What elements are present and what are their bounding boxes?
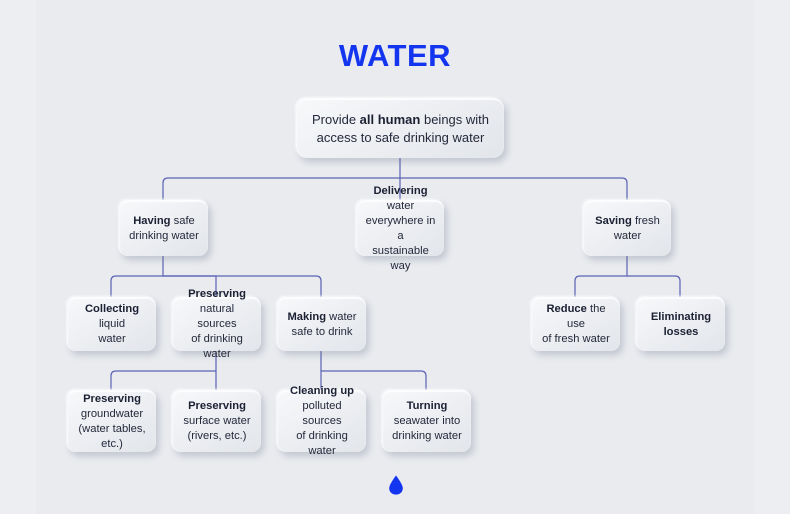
diagram-canvas: WATER Provide — [0, 0, 790, 514]
node-reduce[interactable]: Reduce the useof fresh water — [531, 297, 620, 351]
node-having[interactable]: Having safedrinking water — [119, 200, 208, 256]
node-preserving-natural[interactable]: Preservingnatural sourcesof drinking wat… — [172, 297, 261, 351]
node-preserving-surface-label: Preservingsurface water(rivers, etc.) — [179, 399, 255, 444]
node-preserving-ground[interactable]: Preservinggroundwater(water tables,etc.) — [67, 390, 156, 452]
node-making-label: Making watersafe to drink — [284, 310, 360, 340]
node-delivering-label: Delivering watereverywhere in asustainab… — [363, 184, 438, 274]
node-making[interactable]: Making watersafe to drink — [277, 297, 366, 351]
node-preserving-natural-label: Preservingnatural sourcesof drinking wat… — [179, 287, 255, 362]
node-eliminating-label: Eliminatinglosses — [643, 310, 719, 340]
node-cleaning-up[interactable]: Cleaning uppolluted sourcesof drinking w… — [277, 390, 366, 452]
node-reduce-label: Reduce the useof fresh water — [538, 302, 614, 347]
node-root-label: Provide all human beings withaccess to s… — [303, 111, 498, 147]
node-eliminating[interactable]: Eliminatinglosses — [636, 297, 725, 351]
node-delivering[interactable]: Delivering watereverywhere in asustainab… — [356, 200, 444, 256]
node-root[interactable]: Provide all human beings withaccess to s… — [296, 98, 504, 158]
node-collecting-label: Collecting liquidwater — [74, 302, 150, 347]
node-saving[interactable]: Saving freshwater — [583, 200, 671, 256]
node-having-label: Having safedrinking water — [126, 214, 202, 244]
node-turning-label: Turningseawater intodrinking water — [389, 399, 465, 444]
water-drop-icon — [388, 475, 404, 495]
page-title: WATER — [0, 38, 790, 74]
node-cleaning-up-label: Cleaning uppolluted sourcesof drinking w… — [284, 384, 360, 459]
node-turning[interactable]: Turningseawater intodrinking water — [382, 390, 471, 452]
node-collecting[interactable]: Collecting liquidwater — [67, 297, 156, 351]
node-saving-label: Saving freshwater — [590, 214, 665, 244]
node-preserving-surface[interactable]: Preservingsurface water(rivers, etc.) — [172, 390, 261, 452]
node-preserving-ground-label: Preservinggroundwater(water tables,etc.) — [74, 392, 150, 452]
